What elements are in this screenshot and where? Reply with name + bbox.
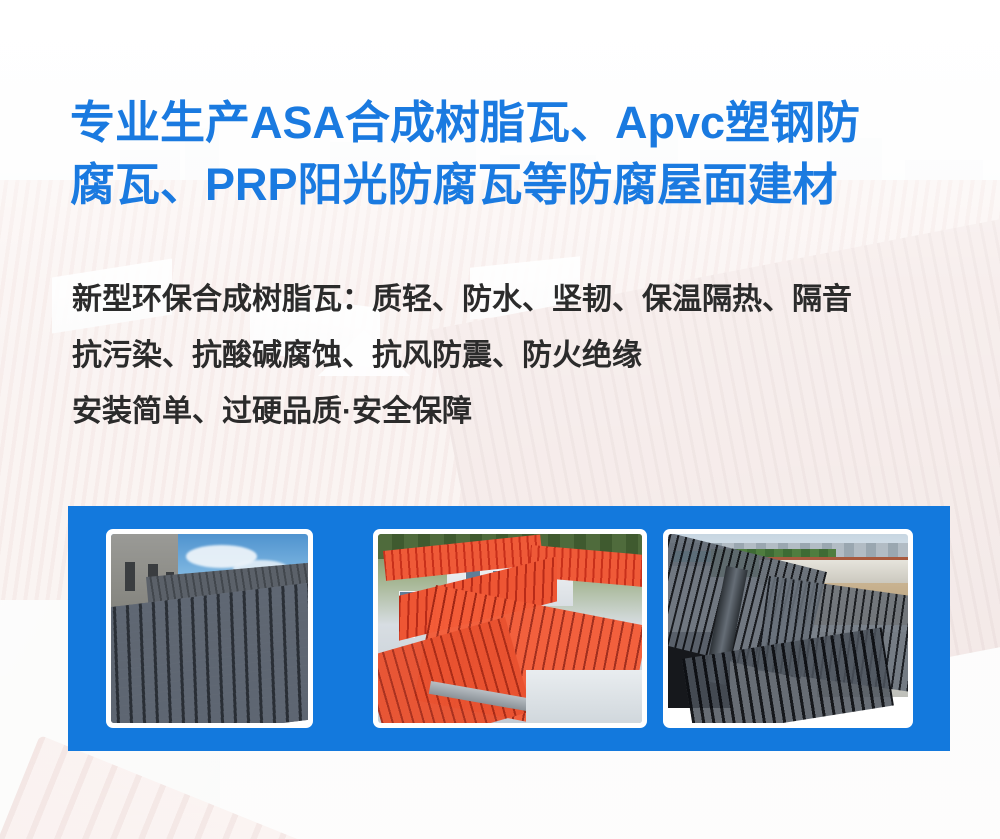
subcopy-line-3: 安装简单、过硬品质·安全保障 xyxy=(72,384,962,440)
banner-content: 专业生产ASA合成树脂瓦、Apvc塑钢防 腐瓦、PRP阳光防腐瓦等防腐屋面建材 … xyxy=(0,0,1000,839)
photo1-window xyxy=(125,562,135,590)
photo-2-canvas xyxy=(378,534,642,723)
red-resin-tile-roof-photo[interactable] xyxy=(373,529,647,728)
subcopy-line-2: 抗污染、抗酸碱腐蚀、抗风防震、防火绝缘 xyxy=(72,328,962,384)
black-resin-tile-roof-photo[interactable] xyxy=(663,529,913,728)
photo-1-canvas xyxy=(111,534,308,723)
photo2-lower-building xyxy=(526,670,642,723)
subcopy-line-1: 新型环保合成树脂瓦：质轻、防水、坚韧、保温隔热、隔音 xyxy=(72,272,962,328)
banner-headline: 专业生产ASA合成树脂瓦、Apvc塑钢防 腐瓦、PRP阳光防腐瓦等防腐屋面建材 xyxy=(70,92,950,216)
product-promo-banner: 专业生产ASA合成树脂瓦、Apvc塑钢防 腐瓦、PRP阳光防腐瓦等防腐屋面建材 … xyxy=(0,0,1000,839)
headline-line-1: 专业生产ASA合成树脂瓦、Apvc塑钢防 xyxy=(70,92,950,154)
banner-subcopy: 新型环保合成树脂瓦：质轻、防水、坚韧、保温隔热、隔音 抗污染、抗酸碱腐蚀、抗风防… xyxy=(72,272,962,440)
grey-resin-tile-roof-photo[interactable] xyxy=(106,529,313,728)
photo-3-canvas xyxy=(668,534,908,723)
headline-line-2: 腐瓦、PRP阳光防腐瓦等防腐屋面建材 xyxy=(70,154,950,216)
product-gallery-panel xyxy=(68,506,950,751)
